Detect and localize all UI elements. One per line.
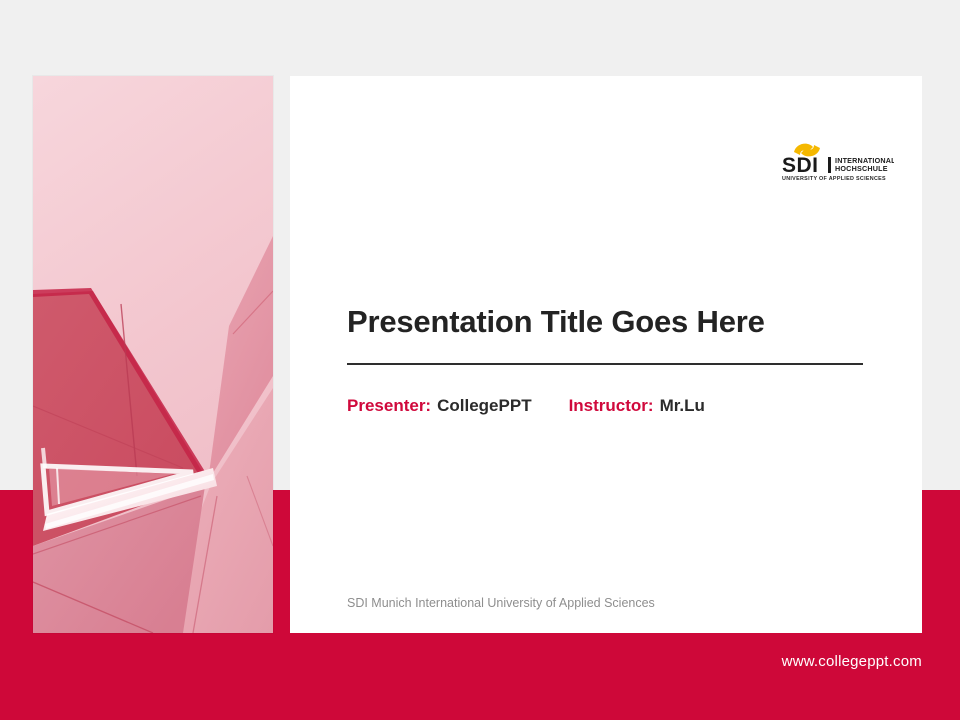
title-block: Presentation Title Goes Here: [347, 304, 863, 365]
svg-text:HOCHSCHULE: HOCHSCHULE: [835, 164, 888, 173]
page-title: Presentation Title Goes Here: [347, 304, 863, 340]
svg-text:UNIVERSITY OF APPLIED SCIENCES: UNIVERSITY OF APPLIED SCIENCES: [782, 176, 886, 182]
instructor-label: Instructor:: [569, 396, 654, 415]
svg-text:SDI: SDI: [782, 154, 819, 177]
presentation-slide: www.collegeppt.com: [0, 0, 960, 720]
sdi-logo-artwork: SDI INTERNATIONALE HOCHSCHULE UNIVERSITY…: [776, 136, 894, 184]
instructor-value: Mr.Lu: [660, 396, 705, 415]
title-divider: [347, 363, 863, 365]
cover-photo-artwork: [33, 76, 273, 633]
cover-photo: [33, 76, 273, 633]
presenter-label: Presenter:: [347, 396, 431, 415]
credits-row: Presenter:CollegePPT Instructor:Mr.Lu: [347, 396, 705, 416]
site-url-text: www.collegeppt.com: [782, 653, 922, 670]
sdi-logo: SDI INTERNATIONALE HOCHSCHULE UNIVERSITY…: [776, 136, 894, 184]
credit-presenter: Presenter:CollegePPT: [347, 396, 532, 416]
credit-instructor: Instructor:Mr.Lu: [569, 396, 705, 416]
presenter-value: CollegePPT: [437, 396, 531, 415]
card-footer-text: SDI Munich International University of A…: [347, 596, 655, 610]
slide-content-card: SDI INTERNATIONALE HOCHSCHULE UNIVERSITY…: [290, 76, 922, 633]
